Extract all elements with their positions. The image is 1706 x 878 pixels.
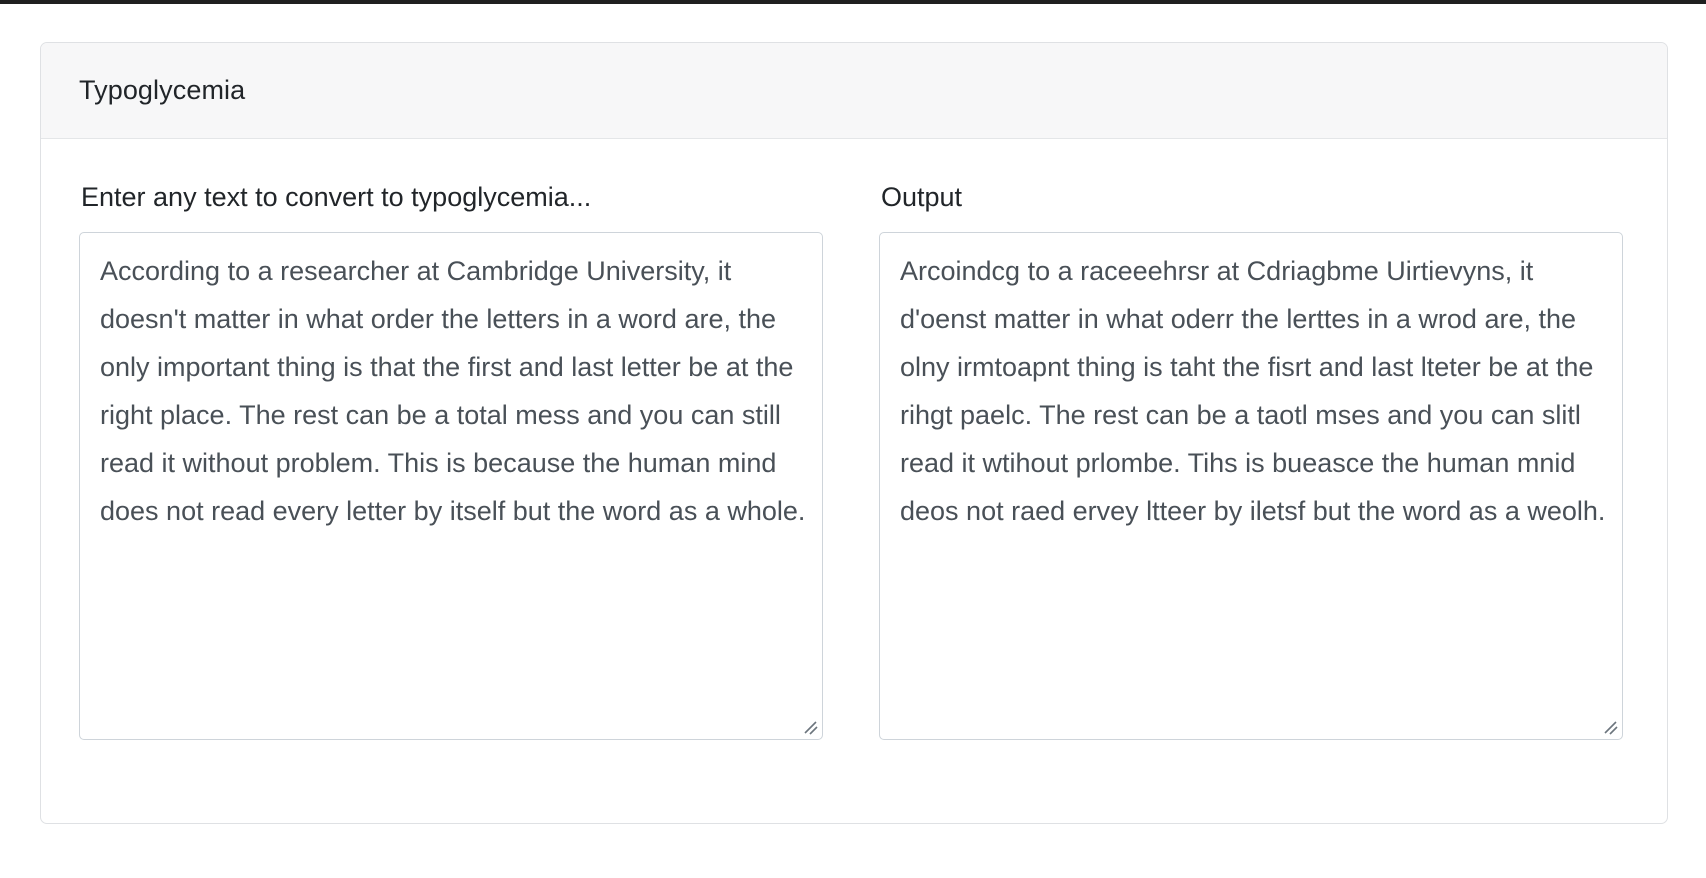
typoglycemia-output-textarea[interactable] [879, 232, 1623, 740]
typoglycemia-input-textarea[interactable] [79, 232, 823, 740]
typoglycemia-card: Typoglycemia Enter any text to convert t… [40, 42, 1668, 824]
output-column: Output [879, 169, 1623, 740]
output-label: Output [881, 181, 1623, 215]
page-title: Typoglycemia [79, 74, 245, 106]
card-header: Typoglycemia [41, 43, 1667, 139]
page-root: Typoglycemia Enter any text to convert t… [0, 4, 1706, 878]
input-column: Enter any text to convert to typoglycemi… [79, 169, 823, 740]
input-textarea-wrapper [79, 232, 823, 740]
card-body: Enter any text to convert to typoglycemi… [41, 139, 1667, 740]
input-label: Enter any text to convert to typoglycemi… [81, 181, 823, 215]
output-textarea-wrapper [879, 232, 1623, 740]
